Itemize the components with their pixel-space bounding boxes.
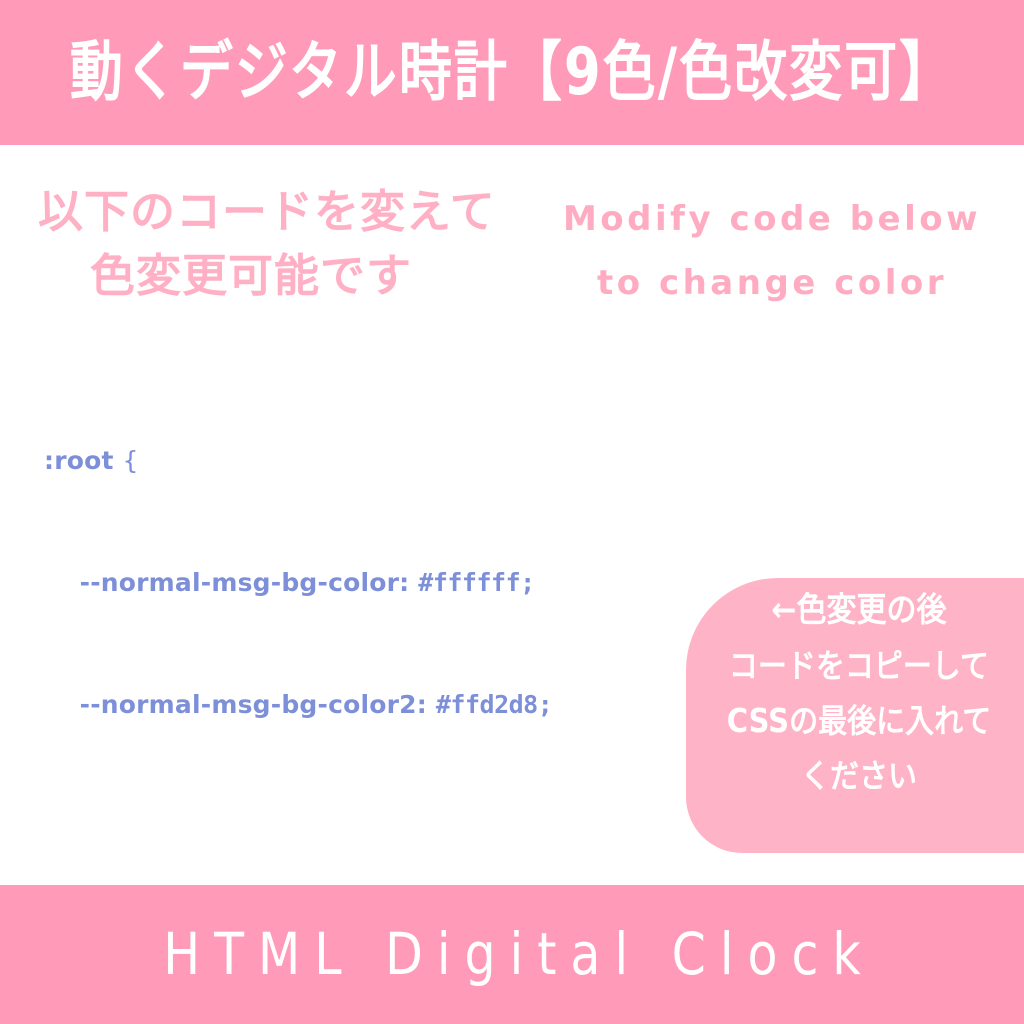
footer-title: HTML Digital Clock [149, 926, 875, 984]
intro-english: Modify code below to change color [548, 188, 996, 316]
intro-japanese-line2: 色変更可能です [38, 244, 538, 308]
code-line-root-open: :root { [44, 437, 864, 484]
callout-line-4: ください [801, 760, 917, 792]
callout-line-3: CSSの最後に入れて [727, 705, 991, 737]
code-property-bg-color: --normal-msg-bg-color: [44, 570, 418, 595]
callout-line-1: ←色変更の後 [771, 594, 946, 628]
footer-band: HTML Digital Clock [0, 885, 1024, 1024]
code-brace-open: { [123, 448, 139, 473]
code-value-bg-color2: #ffd2d8; [436, 692, 552, 717]
intro-english-line2: to change color [548, 252, 996, 316]
code-property-bg-color2: --normal-msg-bg-color2: [44, 692, 436, 717]
poster-canvas: 動くデジタル時計【9色/色改変可】 以下のコードを変えて 色変更可能です Mod… [0, 0, 1024, 1024]
intro-japanese-line1: 以下のコードを変えて [38, 180, 538, 244]
code-selector-root: :root [44, 448, 123, 473]
page-title: 動くデジタル時計【9色/色改変可】 [70, 40, 954, 105]
intro-section: 以下のコードを変えて 色変更可能です Modify code below to … [0, 180, 1024, 330]
callout-line-2: コードをコピーして [729, 650, 989, 682]
intro-japanese: 以下のコードを変えて 色変更可能です [38, 180, 538, 308]
code-value-bg-color: #ffffff; [418, 570, 534, 595]
intro-english-line1: Modify code below [548, 188, 996, 252]
instruction-callout: ←色変更の後 コードをコピーして CSSの最後に入れて ください [686, 578, 1024, 853]
header-band: 動くデジタル時計【9色/色改変可】 [0, 0, 1024, 145]
